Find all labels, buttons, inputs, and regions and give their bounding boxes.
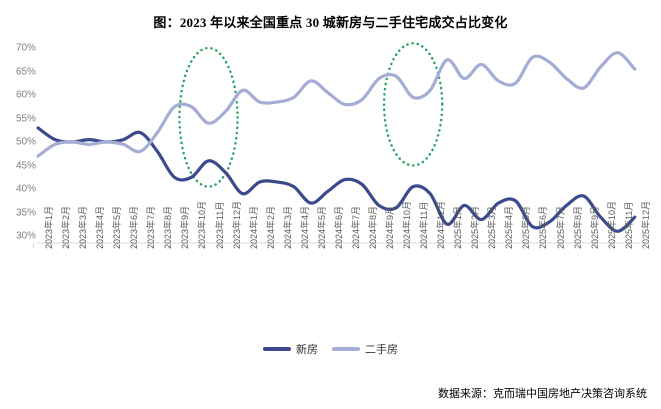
- x-tick-label: 2023年12月: [230, 201, 243, 249]
- x-tick-label: 2025年7月: [554, 206, 567, 249]
- x-tick-label: 2023年11月: [213, 202, 226, 249]
- legend-item-second-hand[interactable]: 二手房: [332, 341, 398, 357]
- x-tick-label: 2024年12月: [434, 201, 447, 249]
- x-tick-label: 2024年11月: [417, 202, 430, 249]
- x-tick-label: 2023年1月: [42, 206, 55, 249]
- legend-label: 新房: [296, 341, 318, 357]
- x-tick-label: 2025年2月: [468, 206, 481, 249]
- x-tick-label: 2024年2月: [264, 206, 277, 249]
- x-tick-label: 2023年8月: [161, 206, 174, 249]
- x-tick-label: 2025年1月: [451, 206, 464, 249]
- x-tick-label: 2025年12月: [639, 201, 652, 249]
- x-tick-label: 2025年4月: [502, 206, 515, 249]
- x-tick-label: 2024年1月: [247, 206, 260, 249]
- legend-item-new-homes[interactable]: 新房: [263, 341, 318, 357]
- x-tick-label: 2024年8月: [366, 206, 379, 249]
- x-tick-label: 2024年4月: [298, 206, 311, 249]
- x-tick-label: 2025年11月: [622, 202, 635, 249]
- x-tick-label: 2024年7月: [349, 206, 362, 249]
- x-tick-label: 2025年5月: [519, 206, 532, 249]
- x-tick-label: 2024年3月: [281, 206, 294, 249]
- x-tick-label: 2025年10月: [605, 201, 618, 249]
- x-tick-label: 2025年9月: [588, 206, 601, 249]
- legend-swatch: [332, 347, 360, 351]
- legend-label: 二手房: [365, 341, 398, 357]
- chart-container: 图：2023 年以来全国重点 30 城新房与二手住宅成交占比变化 70%65%6…: [0, 0, 661, 409]
- x-tick-label: 2023年10月: [195, 201, 208, 249]
- x-tick-label: 2024年10月: [400, 201, 413, 249]
- x-tick-label: 2023年7月: [144, 206, 157, 249]
- x-tick-label: 2023年2月: [59, 206, 72, 249]
- x-tick-label: 2025年3月: [485, 206, 498, 249]
- x-tick-label: 2025年8月: [571, 206, 584, 249]
- x-tick-label: 2024年5月: [315, 206, 328, 249]
- legend-swatch: [263, 347, 291, 351]
- x-tick-label: 2023年4月: [93, 206, 106, 249]
- x-tick-label: 2023年9月: [178, 206, 191, 249]
- x-tick-label: 2023年3月: [76, 206, 89, 249]
- x-tick-label: 2024年9月: [383, 206, 396, 249]
- x-tick-label: 2025年6月: [536, 206, 549, 249]
- x-tick-label: 2023年5月: [110, 206, 123, 249]
- chart-legend: 新房二手房: [0, 341, 661, 357]
- x-tick-label: 2023年6月: [127, 206, 140, 249]
- source-note: 数据来源：克而瑞中国房地产决策咨询系统: [438, 385, 647, 401]
- x-tick-label: 2024年6月: [332, 206, 345, 249]
